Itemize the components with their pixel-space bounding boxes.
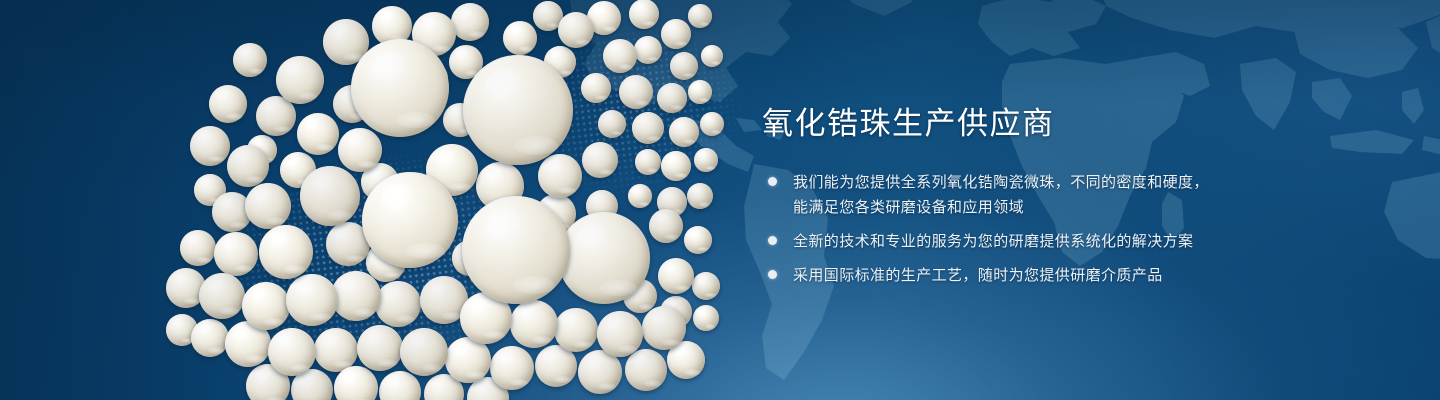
banner-text-block: 氧化锆珠生产供应商 我们能为您提供全系列氧化锆陶瓷微珠，不同的密度和硬度，能满足… <box>762 104 1322 297</box>
bullet-text: 采用国际标准的生产工艺，随时为您提供研磨介质产品 <box>793 263 1163 288</box>
hero-banner: 氧化锆珠生产供应商 我们能为您提供全系列氧化锆陶瓷微珠，不同的密度和硬度，能满足… <box>0 0 1440 400</box>
dot-bullet-icon <box>768 236 777 245</box>
list-item: 采用国际标准的生产工艺，随时为您提供研磨介质产品 <box>762 263 1322 288</box>
dot-bullet-icon <box>768 177 777 186</box>
list-item: 全新的技术和专业的服务为您的研磨提供系统化的解决方案 <box>762 229 1322 254</box>
bullet-text: 全新的技术和专业的服务为您的研磨提供系统化的解决方案 <box>793 229 1193 254</box>
bullet-text: 我们能为您提供全系列氧化锆陶瓷微珠，不同的密度和硬度，能满足您各类研磨设备和应用… <box>793 170 1213 220</box>
list-item: 我们能为您提供全系列氧化锆陶瓷微珠，不同的密度和硬度，能满足您各类研磨设备和应用… <box>762 170 1322 220</box>
dot-bullet-icon <box>768 270 777 279</box>
page-title: 氧化锆珠生产供应商 <box>762 104 1322 144</box>
feature-bullet-list: 我们能为您提供全系列氧化锆陶瓷微珠，不同的密度和硬度，能满足您各类研磨设备和应用… <box>762 170 1322 288</box>
